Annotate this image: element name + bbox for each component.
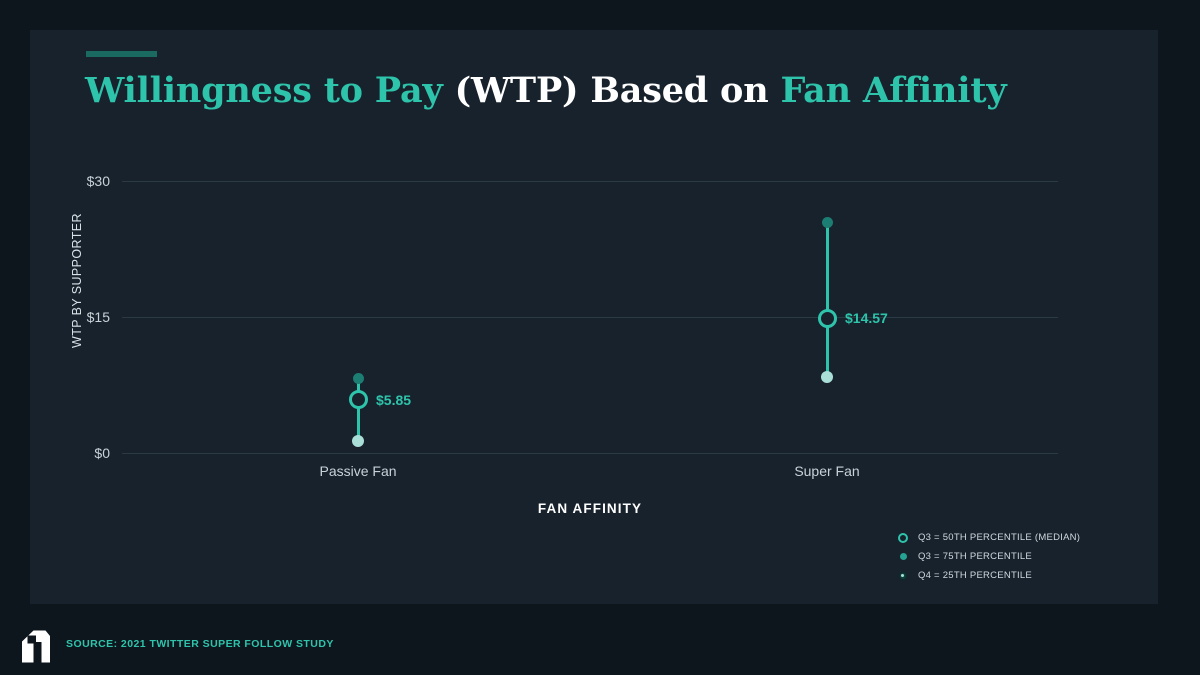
legend-item-q75[interactable]: Q3 = 75TH PERCENTILE xyxy=(895,547,1105,566)
q75-dot-super-fan[interactable] xyxy=(822,217,833,228)
range-stem-passive-fan xyxy=(357,379,360,442)
y-axis-title: WTP BY SUPPORTER xyxy=(70,213,84,348)
q25-dot-super-fan[interactable] xyxy=(821,371,833,383)
median-value-label-super-fan: $14.57 xyxy=(845,310,888,326)
q75-dot-passive-fan[interactable] xyxy=(353,373,364,384)
median-ring-passive-fan[interactable] xyxy=(349,390,368,409)
range-stem-super-fan xyxy=(826,223,829,377)
y-tick-label-0: $0 xyxy=(50,445,110,461)
filled-dot-icon xyxy=(895,553,911,560)
legend-label-q25: Q4 = 25TH PERCENTILE xyxy=(918,570,1032,581)
legend-label-median: Q3 = 50TH PERCENTILE (MEDIAN) xyxy=(918,532,1080,543)
gridline-30 xyxy=(122,181,1058,182)
title-segment-2: (WTP) Based on xyxy=(455,70,781,111)
chart-plot-area: $30 $15 $0 $5.85 Passive Fan $14.57 Supe… xyxy=(122,151,1058,483)
gridline-0 xyxy=(122,453,1058,454)
slide-canvas: Willingness to Pay (WTP) Based on Fan Af… xyxy=(0,0,1200,675)
x-tick-label-passive-fan: Passive Fan xyxy=(319,463,396,479)
ringed-dot-icon xyxy=(895,572,911,580)
y-tick-label-15: $15 xyxy=(50,309,110,325)
legend-item-q25[interactable]: Q4 = 25TH PERCENTILE xyxy=(895,566,1105,585)
legend-item-median[interactable]: Q3 = 50TH PERCENTILE (MEDIAN) xyxy=(895,528,1105,547)
source-caption: SOURCE: 2021 TWITTER SUPER FOLLOW STUDY xyxy=(66,638,334,650)
brand-logo-icon xyxy=(16,627,56,667)
page-title: Willingness to Pay (WTP) Based on Fan Af… xyxy=(85,70,1006,111)
x-axis-title: FAN AFFINITY xyxy=(122,501,1058,516)
q25-dot-passive-fan[interactable] xyxy=(352,435,364,447)
chart-legend: Q3 = 50TH PERCENTILE (MEDIAN) Q3 = 75TH … xyxy=(895,528,1105,585)
median-ring-super-fan[interactable] xyxy=(818,309,837,328)
title-accent-bar xyxy=(86,51,157,57)
median-value-label-passive-fan: $5.85 xyxy=(376,392,411,408)
gridline-15 xyxy=(122,317,1058,318)
y-tick-label-30: $30 xyxy=(50,173,110,189)
x-tick-label-super-fan: Super Fan xyxy=(794,463,859,479)
legend-label-q75: Q3 = 75TH PERCENTILE xyxy=(918,551,1032,562)
title-segment-3: Fan Affinity xyxy=(780,70,1006,111)
hollow-ring-icon xyxy=(895,533,911,543)
title-segment-1: Willingness to Pay xyxy=(85,70,455,111)
